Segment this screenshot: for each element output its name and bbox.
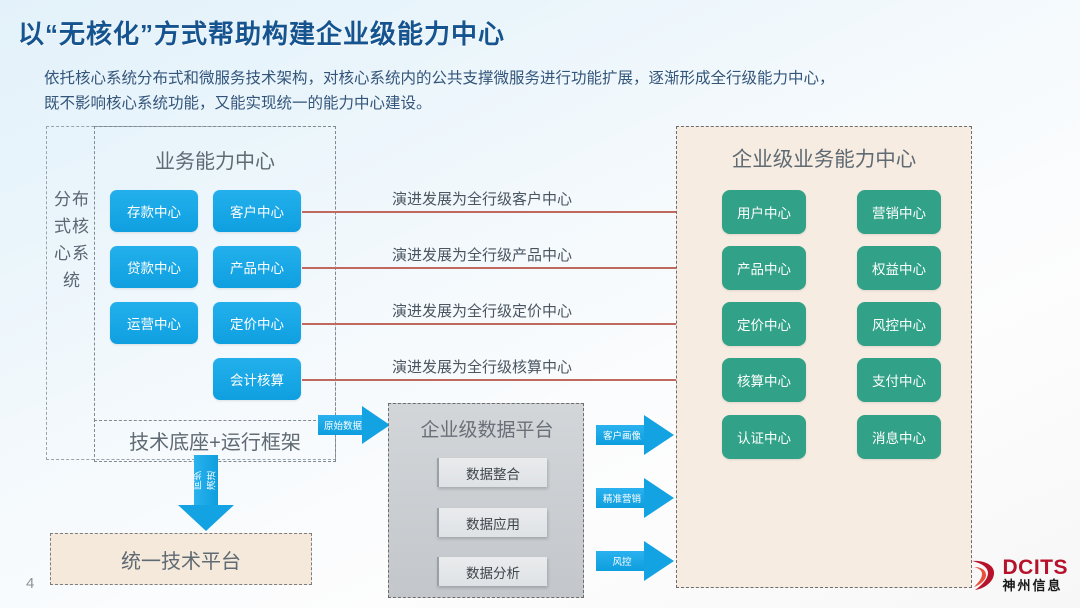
enterprise-box-user[interactable]: 用户中心	[722, 190, 806, 234]
capability-box-label: 客户中心	[230, 201, 284, 221]
data-platform-title: 企业级数据平台	[389, 415, 585, 442]
capability-box-loan[interactable]: 贷款中心	[110, 246, 198, 288]
enterprise-box-risk-control[interactable]: 风控中心	[857, 302, 941, 346]
capability-box-customer[interactable]: 客户中心	[213, 190, 301, 232]
outcome-arrow-customer-profile: 客户画像	[596, 415, 674, 455]
enterprise-box-marketing[interactable]: 营销中心	[857, 190, 941, 234]
slide-subtitle: 依托核心系统分布式和微服务技术架构，对核心系统内的公共支撑微服务进行功能扩展，逐…	[44, 66, 984, 116]
unified-tech-platform-box: 统一技术平台	[50, 533, 312, 585]
enterprise-box-payment[interactable]: 支付中心	[857, 358, 941, 402]
enterprise-box-accounting[interactable]: 核算中心	[722, 358, 806, 402]
connector-arrow-accounting	[302, 379, 730, 381]
enterprise-box-message[interactable]: 消息中心	[857, 415, 941, 459]
enterprise-box-label: 定价中心	[737, 314, 791, 334]
enterprise-box-product[interactable]: 产品中心	[722, 246, 806, 290]
enterprise-box-label: 营销中心	[872, 202, 926, 222]
distributed-core-system-label: 分布式核心系统	[52, 186, 92, 294]
connector-label-accounting: 演进发展为全行级核算中心	[392, 356, 572, 377]
data-item-application[interactable]: 数据应用	[437, 508, 547, 537]
data-item-analysis[interactable]: 数据分析	[437, 557, 547, 586]
enterprise-box-label: 用户中心	[737, 202, 791, 222]
outcome-arrow-label: 客户画像	[596, 428, 648, 442]
raw-data-arrow-label: 原始数据	[320, 418, 366, 432]
capability-box-label: 运营中心	[127, 313, 181, 333]
logo-text-group: DCITS 神州信息	[1003, 557, 1069, 594]
arrow-head	[644, 541, 674, 581]
arrow-head	[644, 478, 674, 518]
enterprise-data-platform-container: 企业级数据平台 数据整合 数据应用 数据分析	[388, 403, 584, 598]
enterprise-box-label: 风控中心	[872, 314, 926, 334]
connector-label-customer: 演进发展为全行级客户中心	[392, 188, 572, 209]
sync-evolution-arrow-icon: 同步演进	[178, 455, 234, 533]
enterprise-box-label: 消息中心	[872, 427, 926, 447]
enterprise-box-authentication[interactable]: 认证中心	[722, 415, 806, 459]
capability-box-label: 存款中心	[127, 201, 181, 221]
capability-box-pricing[interactable]: 定价中心	[213, 302, 301, 344]
outcome-arrow-precision-marketing: 精准营销	[596, 478, 674, 518]
arrow-head	[644, 415, 674, 455]
enterprise-box-rights[interactable]: 权益中心	[857, 246, 941, 290]
logo-brand-en: DCITS	[1003, 557, 1069, 578]
connector-arrow-pricing	[302, 323, 730, 325]
logo-brand-cn: 神州信息	[1003, 578, 1069, 594]
dcits-logo: DCITS 神州信息	[968, 552, 1069, 598]
dcits-logo-mark-icon	[968, 558, 998, 592]
subtitle-line-1: 依托核心系统分布式和微服务技术架构，对核心系统内的公共支撑微服务进行功能扩展，逐…	[44, 66, 984, 91]
data-item-integration[interactable]: 数据整合	[437, 458, 547, 487]
capability-box-product[interactable]: 产品中心	[213, 246, 301, 288]
subtitle-line-2: 既不影响核心系统功能，又能实现统一的能力中心建设。	[44, 91, 984, 116]
enterprise-box-label: 产品中心	[737, 258, 791, 278]
outcome-arrow-label: 精准营销	[596, 491, 648, 505]
enterprise-box-label: 核算中心	[737, 370, 791, 390]
connector-label-product: 演进发展为全行级产品中心	[392, 244, 572, 265]
arrow-head	[178, 505, 234, 531]
business-capability-center-title: 业务能力中心	[94, 145, 336, 174]
page-title: 以“无核化”方式帮助构建企业级能力中心	[18, 14, 505, 51]
enterprise-box-label: 认证中心	[737, 427, 791, 447]
capability-box-accounting[interactable]: 会计核算	[213, 358, 301, 400]
capability-box-deposit[interactable]: 存款中心	[110, 190, 198, 232]
capability-box-label: 贷款中心	[127, 257, 181, 277]
enterprise-box-pricing[interactable]: 定价中心	[722, 302, 806, 346]
capability-box-label: 会计核算	[230, 369, 284, 389]
connector-arrow-product	[302, 267, 730, 269]
sync-evolution-arrow-label: 同步演进	[175, 471, 237, 491]
connector-label-pricing: 演进发展为全行级定价中心	[392, 300, 572, 321]
outcome-arrow-risk-control: 风控	[596, 541, 674, 581]
capability-box-label: 定价中心	[230, 313, 284, 333]
capability-box-operation[interactable]: 运营中心	[110, 302, 198, 344]
enterprise-box-label: 权益中心	[872, 258, 926, 278]
outcome-arrow-label: 风控	[596, 554, 648, 568]
page-number: 4	[26, 575, 34, 592]
capability-box-label: 产品中心	[230, 257, 284, 277]
raw-data-arrow-icon: 原始数据	[318, 406, 390, 444]
connector-arrow-customer	[302, 211, 730, 213]
arrow-head	[362, 406, 390, 444]
enterprise-box-label: 支付中心	[872, 370, 926, 390]
enterprise-capability-center-title: 企业级业务能力中心	[676, 142, 972, 172]
